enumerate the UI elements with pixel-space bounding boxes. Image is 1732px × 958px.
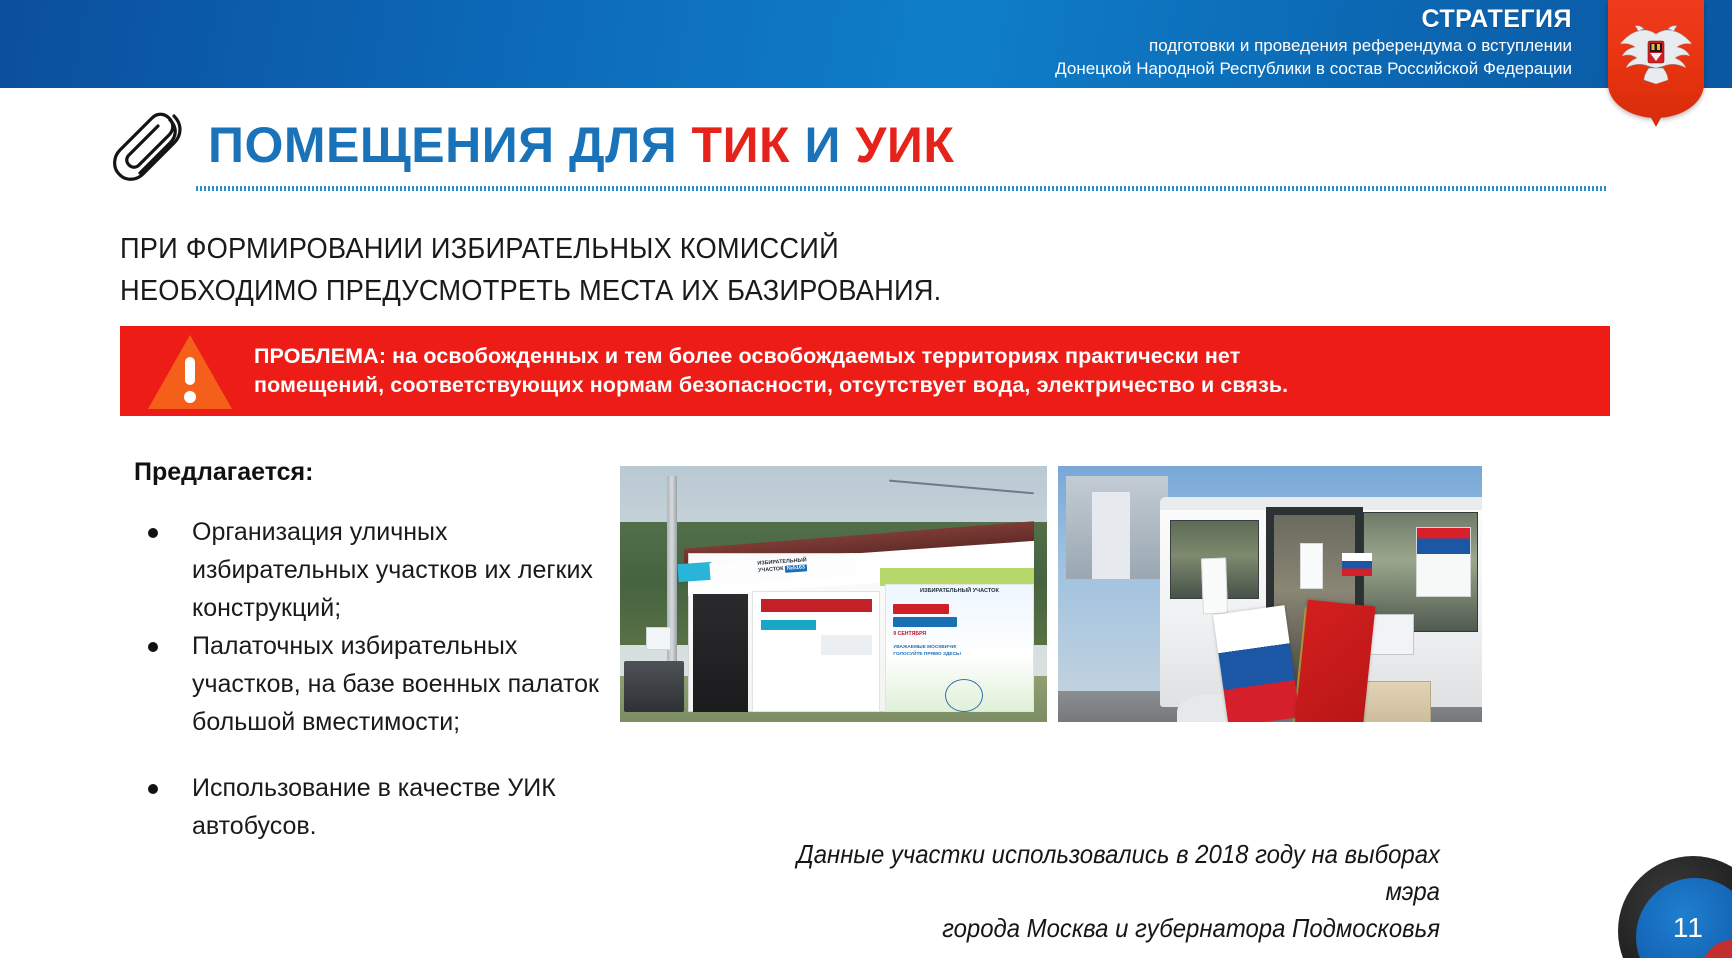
title-part-3: И [790, 117, 855, 173]
slide-header: СТРАТЕГИЯ подготовки и проведения рефере… [0, 0, 1732, 88]
proposals-list: Организация уличных избирательных участк… [134, 513, 614, 845]
photo1-chip-vybory [893, 604, 949, 614]
problem-text: ПРОБЛЕМА: на освобожденных и тем более о… [254, 342, 1288, 400]
caption-line-1: Данные участки использовались в 2018 год… [759, 836, 1440, 910]
slide: СТРАТЕГИЯ подготовки и проведения рефере… [0, 0, 1732, 958]
title-row: ПОМЕЩЕНИЯ ДЛЯ ТИК И УИК [112, 104, 954, 186]
photo1-sign-line-2: УЧАСТОК [758, 566, 784, 574]
photo1-chip-mera-moskvy [893, 617, 957, 627]
photo1-side-badge [677, 562, 712, 582]
list-item: Организация уличных избирательных участк… [134, 513, 614, 627]
photo1-sign-number: №5163 [784, 564, 806, 572]
photo1-door [693, 594, 749, 712]
header-title: СТРАТЕГИЯ [1055, 4, 1572, 34]
title-part-2: ТИК [692, 117, 791, 173]
problem-line-1: ПРОБЛЕМА: на освобожденных и тем более о… [254, 342, 1288, 371]
polling-station-bus-photo [1058, 466, 1482, 722]
photo1-notice [646, 627, 672, 650]
title-divider [196, 186, 1606, 191]
photo2-cardboard-box [1363, 681, 1431, 722]
title-part-1: ПОМЕЩЕНИЯ ДЛЯ [208, 117, 692, 173]
photo2-notice-door [1300, 543, 1323, 589]
problem-callout: ПРОБЛЕМА: на освобожденных и тем более о… [120, 326, 1610, 416]
photo1-cyan-banner [761, 620, 817, 630]
proposals-label: Предлагается: [134, 458, 614, 487]
header-text-block: СТРАТЕГИЯ подготовки и проведения рефере… [1055, 4, 1572, 80]
header-subtitle-line-1: подготовки и проведения референдума о вс… [1055, 34, 1572, 57]
warning-triangle-icon [144, 331, 236, 411]
intro-line-1: ПРИ ФОРМИРОВАНИИ ИЗБИРАТЕЛЬНЫХ КОМИССИЙ [120, 228, 941, 270]
problem-line-2: помещений, соответствующих нормам безопа… [254, 371, 1288, 400]
list-item: Использование в качестве УИК автобусов. [134, 769, 614, 845]
photo1-mydocuments-logo [821, 635, 872, 655]
photo1-election-date: 9 СЕНТЯБРЯ [893, 631, 978, 637]
photo2-notice-left [1201, 558, 1228, 615]
photo2-poster [1416, 527, 1471, 596]
photo2-poster-banner [1417, 528, 1470, 554]
photo1-red-banner [761, 599, 872, 612]
photo2-building-highrise [1092, 492, 1130, 579]
photo2-small-russian-flag [1342, 553, 1372, 576]
header-subtitle-line-2: Донецкой Народной Республики в состав Ро… [1055, 57, 1572, 80]
page-number: 11 [1673, 912, 1704, 944]
photo2-russian-flag [1213, 605, 1300, 722]
caption-line-2: города Москва и губернатора Подмосковья [759, 910, 1440, 947]
dnr-coat-of-arms-icon [1608, 0, 1704, 118]
list-item: Палаточных избирательных участков, на ба… [134, 627, 614, 741]
proposals-column: Предлагается: Организация уличных избира… [134, 458, 614, 845]
photo1-vehicle [624, 661, 684, 712]
intro-line-2: НЕОБХОДИМО ПРЕДУСМОТРЕТЬ МЕСТА ИХ БАЗИРО… [120, 270, 941, 312]
page-title: ПОМЕЩЕНИЯ ДЛЯ ТИК И УИК [208, 116, 954, 174]
photo2-red-flag [1295, 600, 1375, 722]
title-part-4: УИК [855, 117, 954, 173]
polling-station-kiosk-photo: ИЗБИРАТЕЛЬНЫЙ УЧАСТОК №5163 ИЗБИРАТЕЛЬНЫ… [620, 466, 1047, 722]
double-headed-eagle-icon [1616, 22, 1696, 84]
paperclip-icon [112, 104, 190, 186]
photo1-panel-heading: ИЗБИРАТЕЛЬНЫЙ УЧАСТОК [889, 588, 1030, 594]
photo1-bicycle-illustration [945, 679, 983, 712]
photos-caption: Данные участки использовались в 2018 год… [759, 836, 1440, 947]
intro-text: ПРИ ФОРМИРОВАНИИ ИЗБИРАТЕЛЬНЫХ КОМИССИЙ … [120, 228, 941, 312]
photo1-panel-note: УВАЖАЕМЫЕ МОСКВИЧИ! ГОЛОСУЙТЕ ПРЯМО ЗДЕС… [893, 645, 987, 658]
